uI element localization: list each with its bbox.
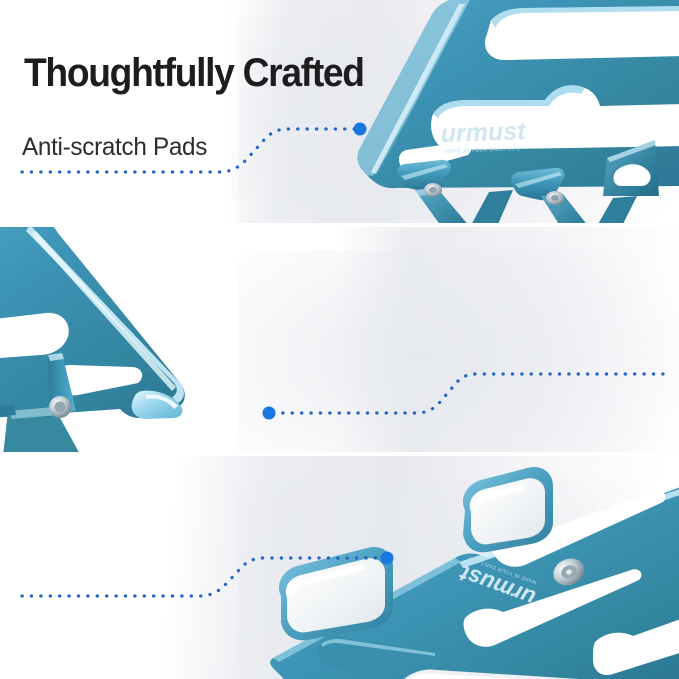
infographic-page: urmust MAKE IN YOUR DAILY LIFE — [0, 0, 679, 679]
panel-2-backdrop — [0, 227, 679, 453]
backdrop-soft-glow — [238, 478, 679, 679]
panel-divider-2 — [0, 452, 679, 456]
panel-3-backdrop — [0, 456, 679, 679]
backdrop-soft-glow — [238, 250, 679, 453]
page-title: Thoughtfully Crafted — [24, 53, 364, 93]
panel-anti-scratch-pads: urmust MAKE IN YOUR DAILY LIFE — [0, 0, 679, 224]
panel-1-backdrop — [0, 0, 679, 224]
callout-label-anti-scratch-pads: Anti-scratch Pads — [22, 133, 207, 162]
panel-protective-hook: urmust MAKE IN YOUR DAILY LIFE — [0, 456, 679, 679]
panel-divider-1 — [0, 223, 679, 227]
panel-smooth-edges: Smooth Edges — [0, 227, 679, 453]
